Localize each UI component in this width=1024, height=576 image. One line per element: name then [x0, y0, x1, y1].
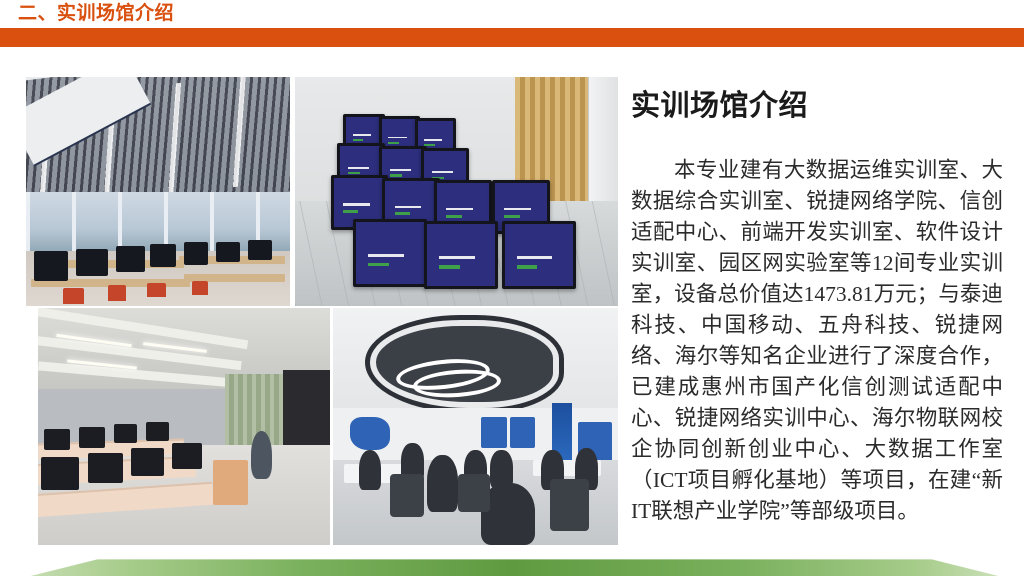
photo-lecture-room — [38, 308, 330, 545]
monitor — [79, 427, 105, 448]
office-chair — [390, 474, 424, 517]
monitor — [146, 422, 169, 441]
photo-innovation-center-content — [333, 308, 618, 545]
person-student — [427, 455, 458, 512]
chair — [192, 281, 208, 295]
photo-lab-ceiling — [26, 77, 290, 306]
footer-ribbon — [0, 544, 1024, 576]
monitor — [248, 240, 272, 261]
chair — [147, 283, 165, 297]
monitor — [172, 443, 201, 469]
monitor — [150, 244, 176, 267]
person-student — [359, 450, 382, 490]
photo-blue-monitors-content — [295, 77, 618, 306]
china-map-graphic — [350, 417, 390, 450]
office-chair — [550, 479, 590, 531]
photo-lecture-room-content — [38, 308, 330, 545]
monitor-blue — [424, 221, 498, 289]
monitor — [44, 429, 70, 450]
projection-screen — [283, 370, 330, 455]
slide-root: 二、实训场馆介绍 — [0, 0, 1024, 576]
section-heading: 二、实训场馆介绍 — [18, 1, 174, 27]
monitor-blue — [502, 221, 576, 289]
monitor — [184, 242, 208, 265]
monitor — [114, 424, 137, 443]
photo-lab-ceiling-content — [26, 77, 290, 306]
chair — [108, 285, 126, 301]
monitor-blue — [353, 219, 427, 287]
monitor — [88, 453, 123, 484]
podium — [213, 460, 248, 505]
monitor — [131, 448, 163, 476]
office-chair — [458, 474, 489, 512]
body-paragraph: 本专业建有大数据运维实训室、大数据综合实训室、锐捷网络学院、信创适配中心、前端开… — [631, 155, 1003, 527]
header-accent-bar — [0, 28, 1024, 47]
monitor — [116, 246, 145, 271]
photo-innovation-center — [333, 308, 618, 545]
wall-infographic — [481, 417, 507, 448]
monitor — [34, 251, 68, 281]
person-instructor — [251, 431, 271, 478]
monitor — [41, 457, 79, 490]
photo-blue-monitors — [295, 77, 618, 306]
page-title: 实训场馆介绍 — [631, 82, 808, 124]
chair — [63, 288, 84, 304]
wall-infographic — [510, 417, 536, 448]
monitor — [216, 242, 240, 263]
monitor — [76, 249, 108, 276]
